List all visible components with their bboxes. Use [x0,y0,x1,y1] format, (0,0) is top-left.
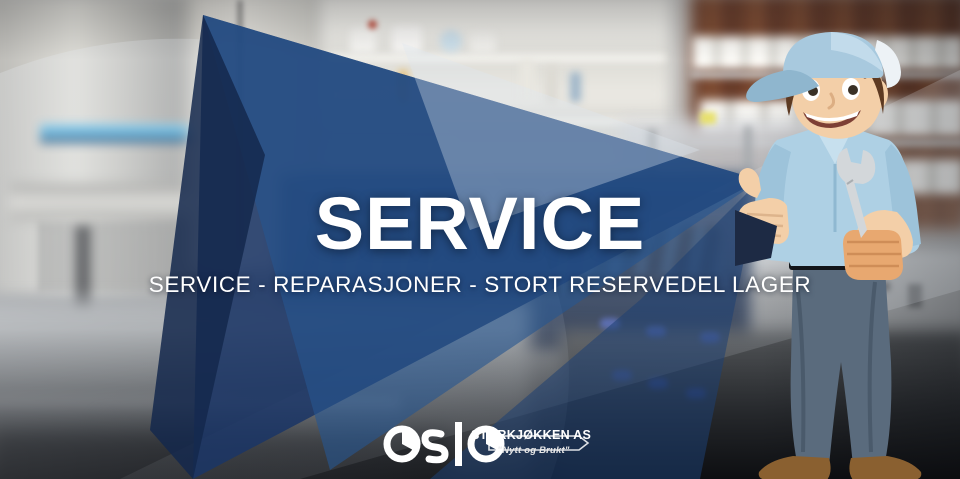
yellow-tag [700,112,716,124]
page-title: SERVICE [0,186,960,262]
logo-tagline: "Nytt og Brukt" [471,445,596,457]
mascot-pupil [848,85,858,95]
mascot-shoe-left [759,456,831,479]
logo-wordmark-text: STORKJØKKEN AS "Nytt og Brukt" [471,428,596,457]
headline-block: SERVICE SERVICE - REPARASJONER - STORT R… [0,186,960,298]
mascot-shoe-right [849,456,921,479]
company-logo[interactable]: STORKJØKKEN AS "Nytt og Brukt" [383,418,593,470]
shelf-bottle [570,72,581,102]
page-subtitle: SERVICE - REPARASJONER - STORT RESERVEDE… [0,272,960,298]
service-banner: SERVICE SERVICE - REPARASJONER - STORT R… [0,0,960,479]
logo-company-name: STORKJØKKEN AS [471,428,596,442]
